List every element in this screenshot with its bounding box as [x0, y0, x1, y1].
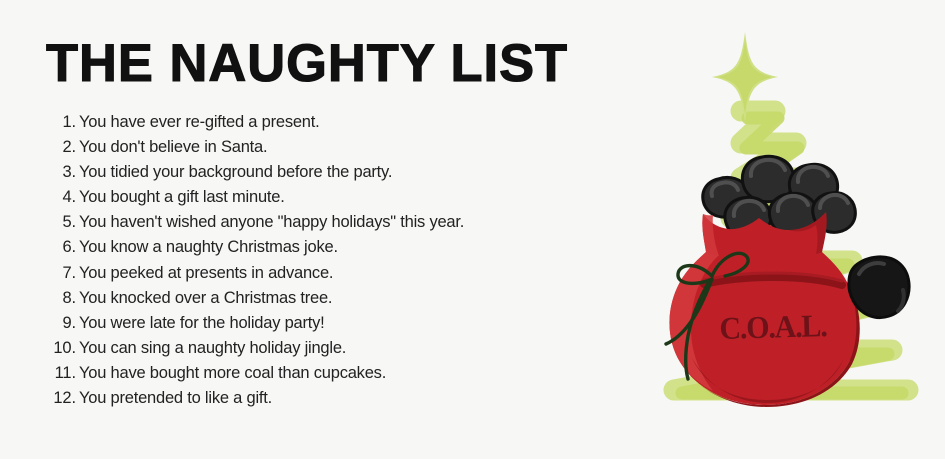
list-item-number: 4.	[0, 188, 76, 207]
list-item: 5.You haven't wished anyone "happy holid…	[0, 213, 610, 238]
list-item: 7.You peeked at presents in advance.	[0, 264, 610, 289]
list-item-text: You pretended to like a gift.	[76, 389, 272, 408]
coal-lump-floating	[849, 257, 909, 318]
list-item: 3.You tidied your background before the …	[0, 163, 610, 188]
list-item: 1.You have ever re-gifted a present.	[0, 113, 610, 138]
list-item-text: You bought a gift last minute.	[76, 188, 285, 207]
list-item-text: You have bought more coal than cupcakes.	[76, 364, 386, 383]
list-item-number: 8.	[0, 289, 76, 308]
list-item-number: 5.	[0, 213, 76, 232]
list-item-number: 7.	[0, 264, 76, 283]
list-item-text: You tidied your background before the pa…	[76, 163, 392, 182]
list-item-number: 12.	[0, 389, 76, 408]
naughty-list: 1.You have ever re-gifted a present.2.Yo…	[0, 113, 610, 414]
list-item-number: 1.	[0, 113, 76, 132]
list-item: 8.You knocked over a Christmas tree.	[0, 289, 610, 314]
list-item-text: You knocked over a Christmas tree.	[76, 289, 332, 308]
list-item-text: You haven't wished anyone "happy holiday…	[76, 213, 464, 232]
list-item-text: You don't believe in Santa.	[76, 138, 267, 157]
list-item-number: 6.	[0, 238, 76, 257]
list-item-text: You know a naughty Christmas joke.	[76, 238, 338, 257]
list-item: 12.You pretended to like a gift.	[0, 389, 610, 414]
list-item-number: 11.	[0, 364, 76, 383]
list-item: 11.You have bought more coal than cupcak…	[0, 364, 610, 389]
list-item-number: 9.	[0, 314, 76, 333]
list-item: 4.You bought a gift last minute.	[0, 188, 610, 213]
text-column: THE NAUGHTY LIST 1.You have ever re-gift…	[0, 0, 610, 459]
list-item-number: 10.	[0, 339, 76, 358]
coal-lumps-top	[703, 156, 856, 238]
page-title: THE NAUGHTY LIST	[46, 35, 568, 93]
list-item: 2.You don't believe in Santa.	[0, 138, 610, 163]
list-item: 9.You were late for the holiday party!	[0, 314, 610, 339]
naughty-list-poster: THE NAUGHTY LIST 1.You have ever re-gift…	[0, 0, 945, 459]
coal-bag-illustration: C.O.A.L.	[600, 18, 945, 438]
list-item-text: You peeked at presents in advance.	[76, 264, 333, 283]
list-item: 10.You can sing a naughty holiday jingle…	[0, 339, 610, 364]
list-item: 6.You know a naughty Christmas joke.	[0, 238, 610, 263]
list-item-text: You can sing a naughty holiday jingle.	[76, 339, 346, 358]
list-item-number: 2.	[0, 138, 76, 157]
list-item-text: You were late for the holiday party!	[76, 314, 325, 333]
list-item-number: 3.	[0, 163, 76, 182]
list-item-text: You have ever re-gifted a present.	[76, 113, 320, 132]
